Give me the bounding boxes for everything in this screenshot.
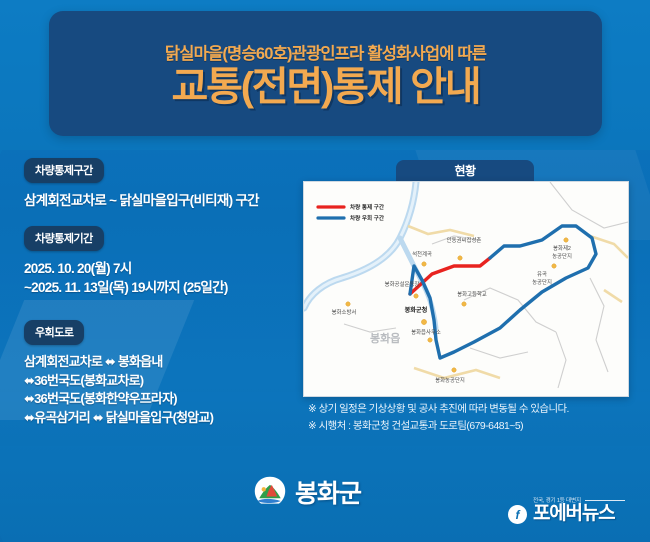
map-label: 봉화농공단지 [435,376,465,384]
map-label: 봉화제2 [553,244,571,252]
map-label: 안동권씨집성촌 [447,236,482,244]
map-label: 농공단지 [532,278,552,286]
news-logo: f 전국, 경기 1등 대변지 포에버뉴스 [508,496,625,524]
page-title: 교통(전면)통제 안내 [172,67,480,107]
detour-line: ⬌36번국도(봉화한약우프라자) [24,390,304,409]
control-zone-text: 삼계회전교차로 ~ 닭실마을입구(비티재) 구간 [24,191,304,211]
map-label: 봉화읍사무소 [411,328,441,336]
detour-line: ⬌유곡삼거리 ⬌ 닭실마을입구(청암교) [24,409,304,428]
note-schedule: ※ 상기 일정은 기상상황 및 공사 추진에 따라 변동될 수 있습니다. [308,402,638,419]
map-label: 봉화소방서 [332,308,357,316]
news-mark-icon: f [508,505,527,524]
header-banner: 닭실마을(명승60호)관광인프라 활성화사업에 따른 교통(전면)통제 안내 [49,11,602,136]
news-name: 포에버뉴스 [533,504,625,524]
map-label: 봉화공설운동장 [385,280,420,288]
map-label: 봉화고등학교 [457,290,487,298]
detour-label: 우회도로 [24,320,84,345]
detour-block: 우회도로 삼계회전교차로 ⬌ 봉화읍내 ⬌36번국도(봉화교차로) ⬌36번국도… [24,320,304,428]
notes-block: ※ 상기 일정은 기상상황 및 공사 추진에 따라 변동될 수 있습니다. ※ … [308,402,638,436]
detour-line: ⬌36번국도(봉화교차로) [24,372,304,391]
control-period-label: 차량통제기간 [24,226,104,251]
county-logo: 봉화군 [252,474,361,510]
news-rule [585,500,625,501]
header-subtitle: 닭실마을(명승60호)관광인프라 활성화사업에 따른 [165,40,486,64]
map-label: 봉화군청 [405,306,428,314]
legend-label-detour: 차량 우회 구간 [350,214,385,222]
detour-text: 삼계회전교차로 ⬌ 봉화읍내 ⬌36번국도(봉화교차로) ⬌36번국도(봉화한약… [24,353,304,428]
note-authority: ※ 시행처 : 봉화군청 건설교통과 도로팀(679-6481~5) [308,419,638,436]
news-text-group: 전국, 경기 1등 대변지 포에버뉴스 [533,496,625,524]
control-zone-block: 차량통제구간 삼계회전교차로 ~ 닭실마을입구(비티재) 구간 [24,158,304,211]
poster-root: 닭실마을(명승60호)관광인프라 활성화사업에 따른 교통(전면)통제 안내 차… [0,0,650,542]
county-name: 봉화군 [295,474,361,510]
control-period-start: 2025. 10. 20(월) 7시 [24,259,304,279]
map-label: 유곡 [537,271,547,278]
control-period-text: 2025. 10. 20(월) 7시 ~2025. 11. 13일(목) 19시… [24,259,304,298]
map-svg: 봉화읍 석천계곡 안동권씨집성촌 봉화공설운동장 봉화고등학교 봉화군청 봉화소… [304,182,628,396]
map-area-label: 봉화읍 [370,331,400,345]
map-label: 석천계곡 [412,250,432,258]
map-panel: 봉화읍 석천계곡 안동권씨집성촌 봉화공설운동장 봉화고등학교 봉화군청 봉화소… [303,181,629,397]
legend-label-control: 차량 통제 구간 [350,203,385,211]
map-label: 농공단지 [552,252,572,260]
detour-line: 삼계회전교차로 ⬌ 봉화읍내 [24,353,304,372]
control-period-end: ~2025. 11. 13일(목) 19시까지 (25일간) [24,278,304,298]
info-column: 차량통제구간 삼계회전교차로 ~ 닭실마을입구(비티재) 구간 차량통제기간 2… [24,158,304,443]
control-zone-value: 삼계회전교차로 ~ 닭실마을입구(비티재) 구간 [24,191,304,211]
map-tab-header: 현황 [396,160,534,181]
control-period-block: 차량통제기간 2025. 10. 20(월) 7시 ~2025. 11. 13일… [24,226,304,298]
bonghwa-emblem-icon [252,475,288,509]
control-zone-label: 차량통제구간 [24,158,104,183]
